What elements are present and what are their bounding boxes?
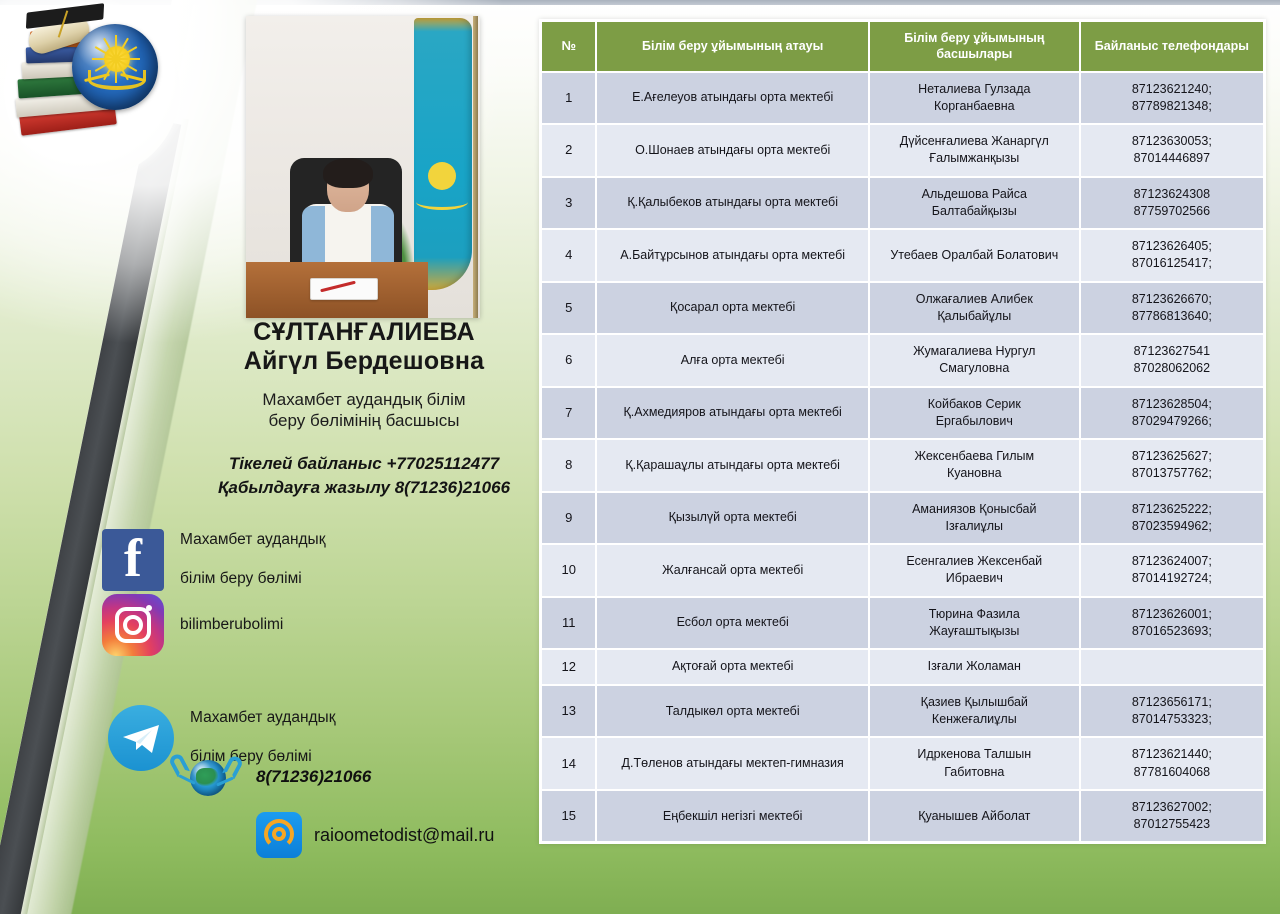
cell-leader: Олжағалиев Алибек Қалыбайұлы xyxy=(870,283,1079,334)
cell-no: 6 xyxy=(542,335,595,386)
table-row: 8Қ.Қарашаұлы атындағы орта мектебіЖексен… xyxy=(542,440,1263,491)
cell-no: 14 xyxy=(542,738,595,789)
cell-organization: Д.Төленов атындағы мектеп-гимназия xyxy=(597,738,867,789)
social-row-instagram[interactable]: bilimberubolimi xyxy=(102,594,283,656)
header-organization: Білім беру ұйымының атауы xyxy=(597,22,867,71)
instagram-icon[interactable] xyxy=(102,594,164,656)
table-row: 15Еңбекшіл негізгі мектебіҚуанышев Айбол… xyxy=(542,791,1263,842)
profile-contact-block: Тікелей байланыс +77025112477 Қабылдауға… xyxy=(152,452,576,500)
cell-no: 13 xyxy=(542,686,595,737)
cell-phones: 87123656171; 87014753323; xyxy=(1081,686,1263,737)
facebook-label-line-1: Махамбет аудандық xyxy=(180,530,325,550)
director-portrait xyxy=(246,16,480,318)
schools-table: № Білім беру ұйымының атауы Білім беру ұ… xyxy=(540,20,1265,843)
cell-organization: Е.Ағелеуов атындағы орта мектебі xyxy=(597,73,867,124)
telegram-label-line-1: Махамбет аудандық xyxy=(190,708,335,728)
cell-leader: Дүйсенғалиева Жанаргүл Ғалымжанқызы xyxy=(870,125,1079,176)
cell-phones: 87123626001; 87016523693; xyxy=(1081,598,1263,649)
table-row: 9Қызылүй орта мектебіАманиязов Қонысбай … xyxy=(542,493,1263,544)
at-inner-ring xyxy=(272,827,286,841)
cell-organization: Қ.Қарашаұлы атындағы орта мектебі xyxy=(597,440,867,491)
table-row: 6Алға орта мектебіЖумагалиева Нургул Сма… xyxy=(542,335,1263,386)
flag-pole xyxy=(473,16,478,318)
cell-leader: Есенгалиев Жексенбай Ибраевич xyxy=(870,545,1079,596)
cell-no: 9 xyxy=(542,493,595,544)
profile-position-line-2: беру бөлімінің басшысы xyxy=(170,410,558,431)
cell-leader: Утебаев Оралбай Болатович xyxy=(870,230,1079,281)
instagram-handle: bilimberubolimi xyxy=(180,615,283,635)
telegram-paper-plane-glyph xyxy=(122,724,160,754)
cell-leader: Альдешова Райса Балтабайқызы xyxy=(870,178,1079,229)
cell-organization: Ақтоғай орта мектебі xyxy=(597,650,867,684)
email-row[interactable]: raioometodist@mail.ru xyxy=(256,812,494,858)
cell-no: 4 xyxy=(542,230,595,281)
cell-organization: Талдыкөл орта мектебі xyxy=(597,686,867,737)
cell-phones xyxy=(1081,650,1263,684)
cell-leader: Қазиев Қылышбай Кенжеғалиұлы xyxy=(870,686,1079,737)
table-row: 2О.Шонаев атындағы орта мектебіДүйсенғал… xyxy=(542,125,1263,176)
cell-phones: 87123625222; 87023594962; xyxy=(1081,493,1263,544)
cell-phones: 87123624308 87759702566 xyxy=(1081,178,1263,229)
poster-root: СҰЛТАНҒАЛИЕВА Айгүл Бердешовна Махамбет … xyxy=(0,0,1280,914)
table-row: 3Қ.Қалыбеков атындағы орта мектебіАльдеш… xyxy=(542,178,1263,229)
cell-no: 12 xyxy=(542,650,595,684)
cell-no: 15 xyxy=(542,791,595,842)
table-row: 13Талдыкөл орта мектебіҚазиев Қылышбай К… xyxy=(542,686,1263,737)
cell-no: 5 xyxy=(542,283,595,334)
education-books-globe-logo xyxy=(4,2,180,178)
profile-name-block: СҰЛТАНҒАЛИЕВА Айгүл Бердешовна Махамбет … xyxy=(170,318,558,432)
instagram-lens xyxy=(123,615,143,635)
cell-phones: 87123630053; 87014446897 xyxy=(1081,125,1263,176)
cell-no: 11 xyxy=(542,598,595,649)
table-row: 14Д.Төленов атындағы мектеп-гимназияИдрк… xyxy=(542,738,1263,789)
header-phones: Байланыс телефондары xyxy=(1081,22,1263,71)
cell-no: 3 xyxy=(542,178,595,229)
mail-at-icon[interactable] xyxy=(256,812,302,858)
flag-sun xyxy=(428,162,456,190)
cell-leader: Жексенбаева Гилым Куановна xyxy=(870,440,1079,491)
phone-number: 8(71236)21066 xyxy=(256,767,371,787)
globe-phone-icon xyxy=(168,752,242,802)
cell-phones: 87123626670; 87786813640; xyxy=(1081,283,1263,334)
cell-phones: 87123627541 87028062062 xyxy=(1081,335,1263,386)
telegram-icon[interactable] xyxy=(108,705,174,771)
appointment-line: Қабылдауға жазылу 8(71236)21066 xyxy=(152,476,576,500)
profile-position: Махамбет аудандық білім беру бөлімінің б… xyxy=(170,389,558,432)
cell-organization: Қосарал орта мектебі xyxy=(597,283,867,334)
cell-organization: Қ.Ахмедияров атындағы орта мектебі xyxy=(597,388,867,439)
facebook-label-line-2: білім беру бөлімі xyxy=(180,569,325,589)
header-leader: Білім беру ұйымының басшылары xyxy=(870,22,1079,71)
profile-surname: СҰЛТАНҒАЛИЕВА xyxy=(170,318,558,347)
cell-phones: 87123621240; 87789821348; xyxy=(1081,73,1263,124)
kazakhstan-flag-globe-icon xyxy=(72,24,158,110)
table-row: 5Қосарал орта мектебіОлжағалиев Алибек Қ… xyxy=(542,283,1263,334)
facebook-icon[interactable] xyxy=(102,529,164,591)
cell-organization: Алға орта мектебі xyxy=(597,335,867,386)
table-row: 7Қ.Ахмедияров атындағы орта мектебіКойба… xyxy=(542,388,1263,439)
phone-row[interactable]: 8(71236)21066 xyxy=(168,752,371,802)
cell-phones: 87123621440; 87781604068 xyxy=(1081,738,1263,789)
cell-organization: Есбол орта мектебі xyxy=(597,598,867,649)
table-body: 1Е.Ағелеуов атындағы орта мектебіНеталие… xyxy=(542,73,1263,842)
cell-phones: 87123625627; 87013757762; xyxy=(1081,440,1263,491)
cell-no: 2 xyxy=(542,125,595,176)
table-row: 1Е.Ағелеуов атындағы орта мектебіНеталие… xyxy=(542,73,1263,124)
cell-no: 10 xyxy=(542,545,595,596)
cell-leader: Койбаков Серик Ергабылович xyxy=(870,388,1079,439)
cell-phones: 87123624007; 87014192724; xyxy=(1081,545,1263,596)
flag-eagle xyxy=(416,194,468,210)
cell-leader: Ізғали Жоламан xyxy=(870,650,1079,684)
header-no: № xyxy=(542,22,595,71)
cell-organization: А.Байтұрсынов атындағы орта мектебі xyxy=(597,230,867,281)
cell-phones: 87123626405; 87016125417; xyxy=(1081,230,1263,281)
cell-no: 7 xyxy=(542,388,595,439)
schools-table-container: № Білім беру ұйымының атауы Білім беру ұ… xyxy=(539,19,1266,844)
cell-leader: Тюрина Фазила Жауғаштықызы xyxy=(870,598,1079,649)
cell-leader: Идркенова Талшын Габитовна xyxy=(870,738,1079,789)
globe-landmass xyxy=(196,768,218,786)
instagram-dot xyxy=(146,605,152,611)
profile-position-line-1: Махамбет аудандық білім xyxy=(170,389,558,410)
table-row: 12Ақтоғай орта мектебіІзғали Жоламан xyxy=(542,650,1263,684)
person-hair xyxy=(323,158,373,188)
cell-leader: Қуанышев Айболат xyxy=(870,791,1079,842)
direct-contact-line: Тікелей байланыс +77025112477 xyxy=(152,452,576,476)
cell-leader: Неталиева Гулзада Корганбаевна xyxy=(870,73,1079,124)
table-head: № Білім беру ұйымының атауы Білім беру ұ… xyxy=(542,22,1263,71)
table-row: 11Есбол орта мектебіТюрина Фазила Жауғаш… xyxy=(542,598,1263,649)
top-border-strip xyxy=(0,0,1280,5)
cell-no: 1 xyxy=(542,73,595,124)
kazakhstan-flag xyxy=(414,18,472,290)
table-header-row: № Білім беру ұйымының атауы Білім беру ұ… xyxy=(542,22,1263,71)
cell-organization: О.Шонаев атындағы орта мектебі xyxy=(597,125,867,176)
table-row: 4А.Байтұрсынов атындағы орта мектебіУтеб… xyxy=(542,230,1263,281)
cell-organization: Қызылүй орта мектебі xyxy=(597,493,867,544)
cell-organization: Қ.Қалыбеков атындағы орта мектебі xyxy=(597,178,867,229)
cell-no: 8 xyxy=(542,440,595,491)
cell-leader: Жумагалиева Нургул Смагуловна xyxy=(870,335,1079,386)
email-address: raioometodist@mail.ru xyxy=(314,825,494,846)
cell-phones: 87123628504; 87029479266; xyxy=(1081,388,1263,439)
cell-organization: Еңбекшіл негізгі мектебі xyxy=(597,791,867,842)
cell-phones: 87123627002; 87012755423 xyxy=(1081,791,1263,842)
profile-firstname: Айгүл Бердешовна xyxy=(170,347,558,376)
instagram-label: bilimberubolimi xyxy=(180,595,283,654)
table-row: 10Жалғансай орта мектебіЕсенгалиев Жексе… xyxy=(542,545,1263,596)
cell-organization: Жалғансай орта мектебі xyxy=(597,545,867,596)
cell-leader: Аманиязов Қонысбай Ізғалиұлы xyxy=(870,493,1079,544)
